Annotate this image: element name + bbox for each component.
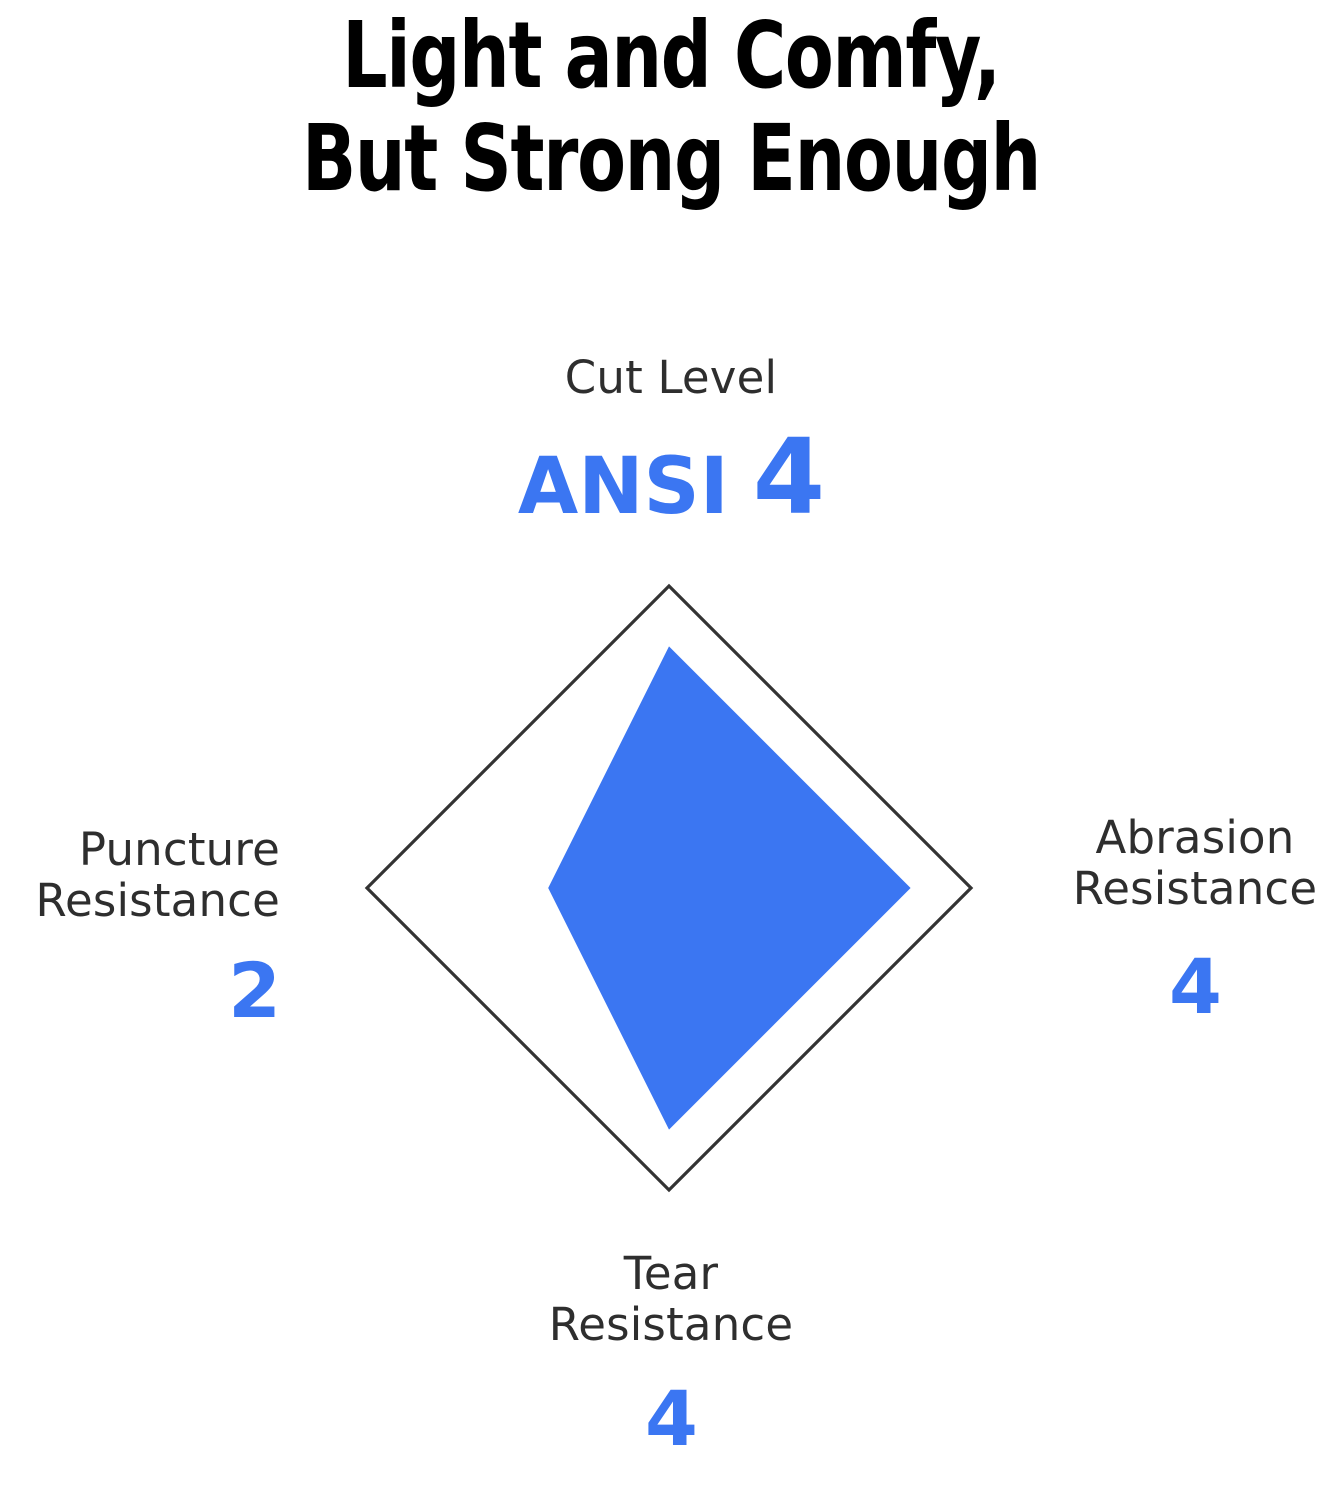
puncture-resistance-value: 2 xyxy=(0,953,280,1029)
axis-label-tear-line-1: Tear xyxy=(624,1247,718,1300)
ansi-rating-value: 4 xyxy=(753,416,824,538)
axis-label-puncture-line-1: Puncture xyxy=(79,823,280,876)
axis-label-abrasion-resistance: Abrasion Resistance 4 xyxy=(1042,812,1342,1025)
axis-label-cut-level-text: Cut Level xyxy=(565,351,777,404)
axis-label-abrasion-line-2: Resistance xyxy=(1073,862,1318,915)
radar-data-polygon xyxy=(548,646,910,1129)
cut-level-rating: ANSI4 xyxy=(0,425,1342,529)
abrasion-resistance-value: 4 xyxy=(1048,949,1342,1025)
ansi-standard-word: ANSI xyxy=(518,442,729,532)
axis-label-puncture-resistance: Puncture Resistance 2 xyxy=(0,824,292,1029)
axis-label-tear-resistance: Tear Resistance 4 xyxy=(0,1248,1342,1457)
axis-label-puncture-line-2: Resistance xyxy=(36,874,281,927)
tear-resistance-value: 4 xyxy=(0,1381,1342,1457)
axis-label-abrasion-line-1: Abrasion xyxy=(1095,811,1294,864)
axis-label-cut-level: Cut Level ANSI4 xyxy=(0,352,1342,529)
axis-label-tear-line-2: Resistance xyxy=(549,1298,794,1351)
